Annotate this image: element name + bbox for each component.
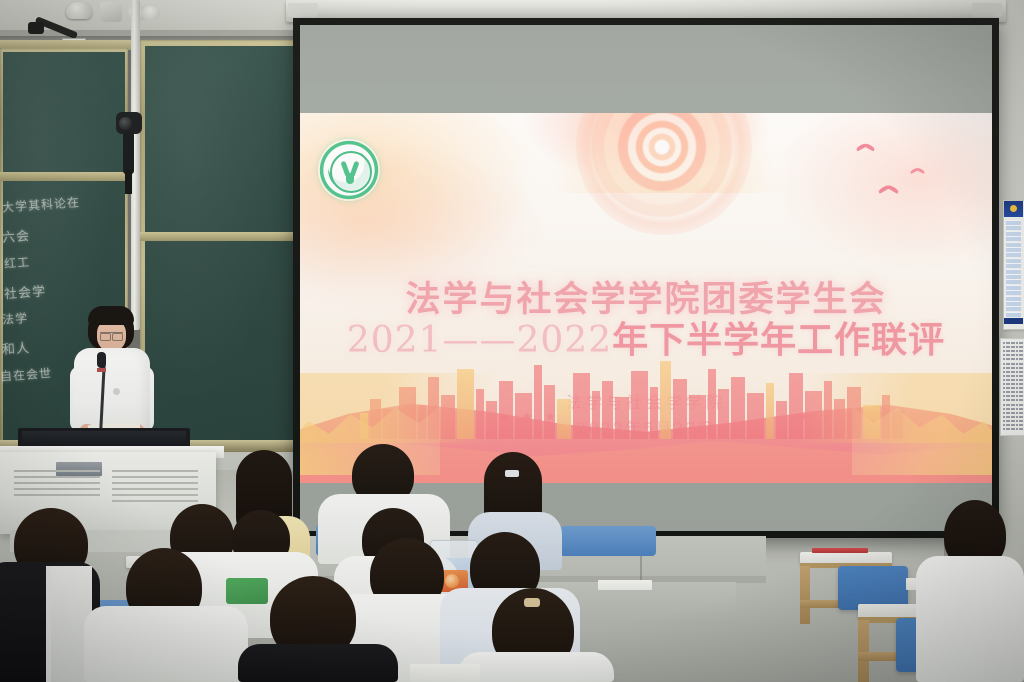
grid-cell	[1021, 395, 1023, 397]
lectern-control-panel[interactable]	[56, 462, 102, 476]
desk-paper-right-back	[812, 548, 868, 553]
grid-cell	[1021, 383, 1023, 385]
emblem-figure-base	[346, 173, 354, 184]
blackboard-right	[140, 40, 302, 452]
lectern-vent-line	[112, 482, 198, 484]
presenter-fringe	[88, 306, 134, 325]
chalk-line: 和人	[1, 337, 30, 358]
notice-row	[1006, 290, 1021, 295]
lectern-vent-line	[14, 476, 100, 478]
lectern-vent-line	[112, 494, 198, 496]
ceiling-speaker-icon	[100, 2, 122, 22]
desk-leg-right-front	[858, 620, 869, 682]
blackboard-left-divider	[0, 172, 128, 181]
grid-cell	[1021, 404, 1023, 406]
chalk-line: 社会学	[3, 281, 46, 303]
grid-cell	[1021, 375, 1023, 377]
hair-clip-icon	[505, 470, 519, 477]
screen-housing-cap-right	[972, 3, 1002, 17]
notice-row	[1006, 258, 1021, 263]
paper-on-desk	[598, 580, 652, 590]
desk-leg-right-back	[800, 566, 810, 624]
grid-cell	[1021, 371, 1023, 373]
wall-notice-badge-icon	[1010, 205, 1017, 212]
grid-cell	[1021, 367, 1023, 369]
screen-housing-cap-left	[288, 3, 318, 17]
lectern-vent-line	[112, 488, 198, 490]
notice-row	[1006, 274, 1021, 279]
student-front-body-1	[238, 644, 398, 682]
grid-cell	[1021, 391, 1023, 393]
notice-row	[1006, 296, 1021, 301]
notice-row	[1006, 231, 1021, 236]
grid-cell	[1021, 346, 1023, 348]
conduit-horizontal	[0, 30, 300, 36]
lectern-vent-line	[112, 500, 198, 502]
microphone-icon	[97, 352, 106, 368]
blackboard-right-divider	[140, 232, 302, 241]
grid-cell	[1021, 358, 1023, 360]
presenter-badge-icon	[113, 388, 120, 395]
grid-cell	[1021, 342, 1023, 344]
student-row3-body-1	[84, 606, 248, 682]
grid-cell	[1021, 428, 1023, 430]
varsity-stripe	[46, 566, 51, 682]
notice-row	[1006, 220, 1021, 225]
notice-row	[1006, 312, 1021, 317]
chalk-line: 红工	[3, 253, 30, 272]
grid-cell	[1021, 416, 1023, 418]
notice-row	[1006, 269, 1021, 274]
notice-row	[1006, 306, 1021, 311]
lectern-vent-line	[14, 482, 100, 484]
chalk-line: 法学	[1, 309, 28, 328]
chalk-line: 自在会世	[0, 364, 53, 385]
lectern-vent-line	[112, 470, 198, 472]
notice-row	[1006, 247, 1021, 252]
slide-glow-left	[300, 113, 540, 293]
paper-front-row	[410, 664, 480, 682]
chalk-line: 六会	[1, 225, 30, 246]
notice-row	[1006, 279, 1021, 284]
projector-lens-icon	[119, 117, 132, 130]
grid-cell	[1021, 350, 1023, 352]
grid-cell	[1021, 412, 1023, 414]
projector-mount-lower	[125, 170, 132, 194]
lectern-vent-line	[112, 476, 198, 478]
microphone-ring	[97, 368, 106, 372]
grid-cell	[1021, 408, 1023, 410]
grid-cell	[1021, 387, 1023, 389]
notice-row	[1006, 236, 1021, 241]
student-front-body-2	[458, 652, 614, 682]
ceiling-dome-fixture	[142, 6, 160, 20]
slide-gold-streak	[300, 373, 992, 443]
student-right-body	[916, 556, 1024, 682]
projector-mount	[123, 132, 134, 174]
lectern-vent-line	[14, 494, 100, 496]
grid-cell	[1021, 363, 1023, 365]
emblem-inner-ring	[330, 151, 372, 193]
grid-cell	[1021, 354, 1023, 356]
classroom-scene: 大学其科论在六会红工社会学法学和人自在会世	[0, 0, 1024, 682]
notice-row	[1006, 225, 1021, 230]
grid-cell	[1021, 424, 1023, 426]
grid-cell	[1021, 399, 1023, 401]
wall-notice-footer	[1004, 318, 1023, 324]
grid-cell	[1021, 379, 1023, 381]
blackboard-right-surface	[145, 46, 297, 446]
projected-slide: 法学与社会学学院团委学生会 2021——2022年下半学年工作联评 法学与社会学…	[300, 113, 992, 483]
notice-row	[1006, 301, 1021, 306]
lectern-vent-line	[14, 470, 100, 472]
notice-row	[1006, 242, 1021, 247]
eyeglasses-icon	[100, 332, 123, 339]
camera-body-icon	[28, 22, 44, 34]
hair-tie-icon	[524, 598, 540, 607]
notice-row	[1006, 263, 1021, 268]
chair-back-2	[560, 526, 656, 556]
shirt-green-print-icon	[226, 578, 268, 604]
grid-cell	[1021, 420, 1023, 422]
notice-row	[1006, 285, 1021, 290]
camera-dome-icon	[66, 2, 92, 19]
notice-row	[1006, 252, 1021, 257]
lectern-vent-line	[14, 488, 100, 490]
snack-bag-mascot-icon	[445, 574, 459, 588]
